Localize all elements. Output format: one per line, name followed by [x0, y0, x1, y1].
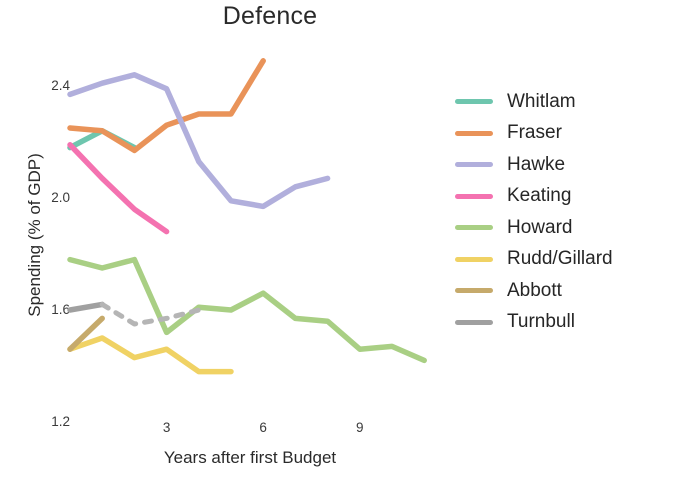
legend-item[interactable]: Turnbull	[455, 307, 685, 339]
legend-item-label: Hawke	[507, 154, 565, 176]
legend-item-label: Fraser	[507, 122, 562, 144]
legend-item-label: Howard	[507, 217, 572, 239]
legend-item[interactable]: Whitlam	[455, 86, 685, 118]
legend-swatch-icon	[455, 225, 493, 230]
legend-item[interactable]: Abbott	[455, 275, 685, 307]
legend-swatch-icon	[455, 257, 493, 262]
legend-swatch-icon	[455, 194, 493, 199]
legend-item[interactable]: Howard	[455, 212, 685, 244]
chart-container: Defence Spending (% of GDP) 1.21.62.02.4…	[0, 0, 688, 485]
legend-swatch-icon	[455, 288, 493, 293]
legend-swatch-icon	[455, 320, 493, 325]
legend-swatch-icon	[455, 162, 493, 167]
chart-legend: WhitlamFraserHawkeKeatingHowardRudd/Gill…	[455, 86, 685, 338]
series-line	[70, 304, 102, 310]
legend-item-label: Rudd/Gillard	[507, 248, 613, 270]
series-line	[70, 260, 424, 361]
legend-item-label: Keating	[507, 185, 571, 207]
legend-item[interactable]: Keating	[455, 181, 685, 213]
legend-item-label: Abbott	[507, 280, 562, 302]
legend-item[interactable]: Rudd/Gillard	[455, 244, 685, 276]
legend-swatch-icon	[455, 99, 493, 104]
series-line	[70, 145, 167, 232]
series-line	[70, 338, 231, 372]
legend-item-label: Whitlam	[507, 91, 576, 113]
legend-swatch-icon	[455, 131, 493, 136]
series-line	[70, 61, 263, 151]
legend-item[interactable]: Hawke	[455, 149, 685, 181]
legend-item[interactable]: Fraser	[455, 118, 685, 150]
legend-item-label: Turnbull	[507, 311, 575, 333]
